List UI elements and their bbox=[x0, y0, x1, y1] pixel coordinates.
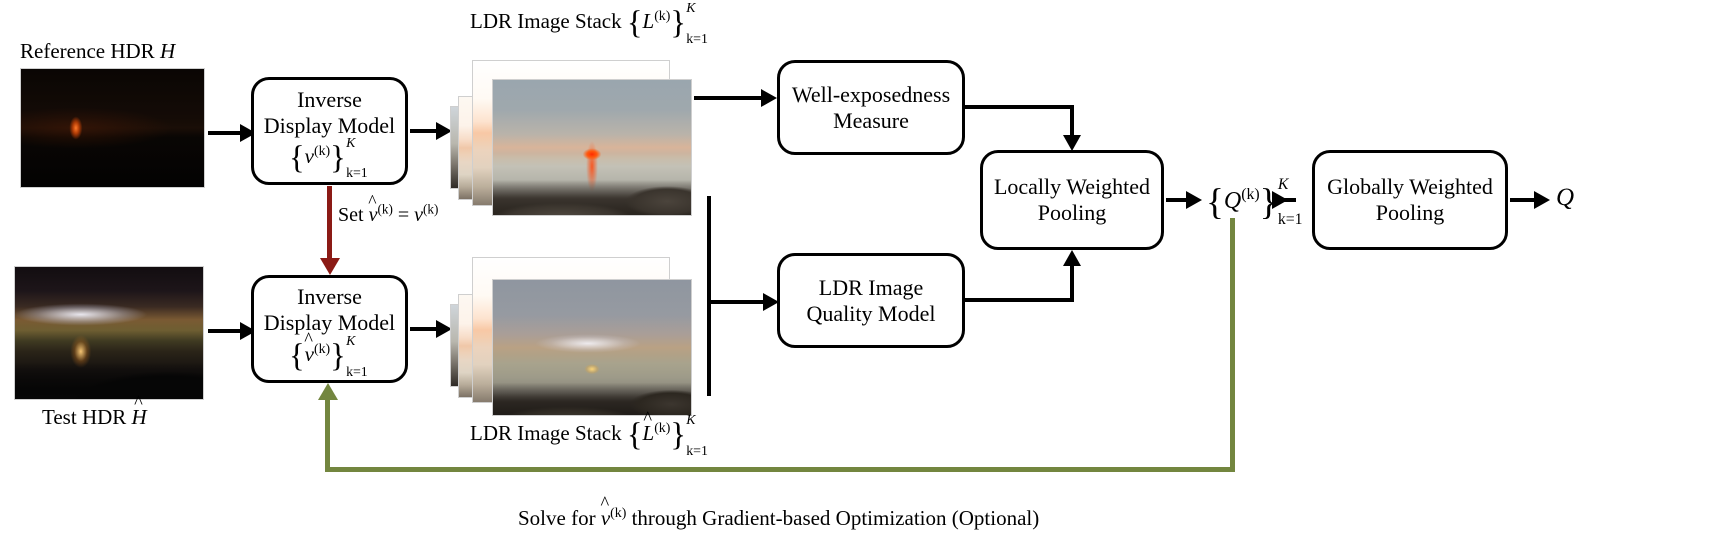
green-feedback-right-vertical bbox=[1230, 218, 1235, 470]
arrow-lwp-to-qstack-head bbox=[1186, 191, 1202, 209]
idm-bottom-param-sup: K bbox=[346, 334, 355, 349]
arrow-ldrtop-to-wellexp-head bbox=[761, 89, 777, 107]
final-output-symbol: Q bbox=[1556, 185, 1574, 211]
idm-bottom-param-limits: Kk=1 bbox=[346, 341, 370, 373]
set-equals: = bbox=[398, 204, 409, 226]
gwp-line2: Pooling bbox=[1327, 200, 1493, 226]
set-rhs-exponent: (k) bbox=[423, 201, 438, 216]
arrow-wellexp-to-lwp-v bbox=[1070, 105, 1074, 139]
ldr-stack-bottom-rocks bbox=[493, 280, 691, 415]
idm-top-line2: Display Model bbox=[264, 113, 395, 139]
brace-open: { bbox=[627, 417, 643, 453]
arrow-idmb-to-ldrstack-line bbox=[410, 327, 438, 331]
idm-top-param-sub: k=1 bbox=[346, 166, 368, 181]
ldr-stack-bottom-layer-4 bbox=[492, 279, 692, 416]
ldr-quality-line1: LDR Image bbox=[807, 275, 936, 301]
test-hdr-caption: Test HDR H bbox=[42, 406, 147, 428]
ldr-stack-bottom-caption-text: LDR Image Stack bbox=[470, 421, 622, 445]
feedback-symbol: v bbox=[601, 507, 610, 529]
arrow-ref-to-idm-line bbox=[208, 131, 242, 135]
green-feedback-arrowhead bbox=[318, 383, 338, 400]
arrow-qstack-to-gwp-head bbox=[1272, 191, 1288, 209]
brace-close: } bbox=[330, 338, 346, 374]
idm-top-param-limits: Kk=1 bbox=[346, 142, 370, 174]
idm-bottom-line2: Display Model bbox=[264, 310, 395, 336]
ldr-stack-top-sup: K bbox=[686, 1, 695, 16]
q-stack-exponent: (k) bbox=[1241, 186, 1259, 203]
set-lhs-symbol: v bbox=[369, 205, 378, 226]
set-rhs-symbol: v bbox=[414, 204, 423, 226]
ldr-stack-bottom-sup: K bbox=[686, 413, 695, 428]
idm-bottom-param-exponent: (k) bbox=[314, 341, 330, 356]
idm-bottom-param-symbol: v bbox=[305, 343, 314, 365]
idm-top-param-symbol: v bbox=[305, 144, 314, 168]
reference-hdr-symbol: H bbox=[160, 39, 175, 63]
feedback-suffix-text: through Gradient-based Optimization (Opt… bbox=[632, 506, 1040, 530]
ldr-stack-top-rocks bbox=[493, 80, 691, 215]
red-connector-arrowhead bbox=[320, 258, 340, 275]
brace-open: { bbox=[1206, 182, 1224, 223]
brace-open: { bbox=[289, 338, 305, 374]
idm-top-param-sup: K bbox=[346, 136, 355, 151]
lwp-line1: Locally Weighted bbox=[994, 174, 1150, 200]
idm-top-param-exponent: (k) bbox=[314, 143, 330, 158]
branch-ldrtop-to-quality bbox=[707, 300, 767, 304]
reference-hdr-caption: Reference HDR H bbox=[20, 40, 175, 62]
idm-top-line1: Inverse bbox=[264, 87, 395, 113]
arrow-test-to-idm-line bbox=[208, 329, 242, 333]
ldr-stack-top-caption: LDR Image Stack {L(k)}Kk=1 bbox=[470, 6, 710, 40]
set-lhs-exponent: (k) bbox=[377, 201, 392, 216]
ldr-stack-top-caption-text: LDR Image Stack bbox=[470, 9, 622, 33]
arrow-lwp-to-qstack-line bbox=[1166, 198, 1188, 202]
brace-close: } bbox=[670, 417, 686, 453]
well-exp-line1: Well-exposedness bbox=[792, 82, 950, 108]
idm-bottom-param-sub: k=1 bbox=[346, 365, 368, 380]
branch-ldrtop-down bbox=[707, 196, 711, 304]
reference-hdr-caption-text: Reference HDR bbox=[20, 39, 155, 63]
arrow-wellexp-to-lwp-head bbox=[1063, 135, 1081, 151]
arrow-ldrtop-to-wellexp-line bbox=[694, 96, 764, 100]
box-inverse-display-model-bottom[interactable]: Inverse Display Model {v(k)}Kk=1 bbox=[251, 275, 408, 383]
box-ldr-image-quality-model[interactable]: LDR Image Quality Model bbox=[777, 253, 965, 348]
green-feedback-horizontal bbox=[325, 467, 1235, 472]
brace-open: { bbox=[627, 5, 643, 41]
q-stack-sub: k=1 bbox=[1278, 212, 1303, 229]
brace-open: { bbox=[289, 140, 305, 176]
red-connector-line bbox=[327, 186, 332, 264]
idm-bottom-line1: Inverse bbox=[264, 284, 395, 310]
test-hdr-foreground bbox=[15, 267, 203, 399]
gwp-line1: Globally Weighted bbox=[1327, 174, 1493, 200]
ldr-stack-bottom-symbol: L bbox=[643, 422, 655, 444]
branch-ldrbottom-up bbox=[707, 300, 711, 396]
feedback-symbol-exponent: (k) bbox=[610, 505, 626, 520]
ldr-stack-bottom-exponent: (k) bbox=[654, 420, 670, 435]
set-parameter-label: Set v(k) = v(k) bbox=[338, 205, 438, 226]
diagram-canvas: Reference HDR H Inverse Display Model {v… bbox=[0, 0, 1718, 544]
ldr-stack-top-layer-4 bbox=[492, 79, 692, 216]
box-locally-weighted-pooling[interactable]: Locally Weighted Pooling bbox=[980, 150, 1164, 250]
q-stack-symbol: {Q(k)}Kk=1 bbox=[1206, 183, 1305, 222]
arrow-quality-to-lwp-h bbox=[965, 298, 1074, 302]
ldr-stack-bottom-sub: k=1 bbox=[686, 444, 708, 459]
ldr-stack-top-sub: k=1 bbox=[686, 32, 708, 47]
brace-close: } bbox=[330, 140, 346, 176]
box-globally-weighted-pooling[interactable]: Globally Weighted Pooling bbox=[1312, 150, 1508, 250]
test-hdr-caption-text: Test HDR bbox=[42, 405, 126, 429]
arrow-wellexp-to-lwp-h bbox=[965, 105, 1074, 109]
test-hdr-image bbox=[14, 266, 204, 400]
well-exp-line2: Measure bbox=[792, 108, 950, 134]
ldr-quality-line2: Quality Model bbox=[807, 301, 936, 327]
q-stack-letter: Q bbox=[1224, 188, 1241, 214]
arrow-idm-to-ldrstack-line bbox=[410, 129, 438, 133]
ldr-stack-top-symbol: L bbox=[643, 9, 655, 33]
test-hdr-symbol: H bbox=[132, 406, 147, 428]
reference-hdr-image bbox=[20, 68, 205, 188]
lwp-line2: Pooling bbox=[994, 200, 1150, 226]
feedback-caption: Solve for v(k) through Gradient-based Op… bbox=[518, 507, 1039, 529]
ldr-stack-top-limits: Kk=1 bbox=[686, 7, 710, 39]
set-label-text: Set bbox=[338, 204, 364, 226]
box-inverse-display-model-top[interactable]: Inverse Display Model {v(k)}Kk=1 bbox=[251, 77, 408, 185]
box-well-exposedness-measure[interactable]: Well-exposedness Measure bbox=[777, 60, 965, 155]
feedback-prefix-text: Solve for bbox=[518, 506, 596, 530]
ldr-stack-bottom-caption: LDR Image Stack {L(k)}Kk=1 bbox=[470, 418, 710, 452]
brace-close: } bbox=[670, 5, 686, 41]
idm-top-param: {v(k)}Kk=1 bbox=[264, 141, 395, 175]
green-feedback-left-vertical bbox=[325, 398, 330, 470]
arrow-quality-to-lwp-head bbox=[1063, 250, 1081, 266]
arrow-gwp-to-output-head bbox=[1534, 191, 1550, 209]
ldr-stack-top-exponent: (k) bbox=[654, 8, 670, 23]
ldr-stack-bottom-limits: Kk=1 bbox=[686, 419, 710, 451]
idm-bottom-param: {v(k)}Kk=1 bbox=[264, 339, 395, 373]
arrow-quality-to-lwp-v bbox=[1070, 265, 1074, 300]
